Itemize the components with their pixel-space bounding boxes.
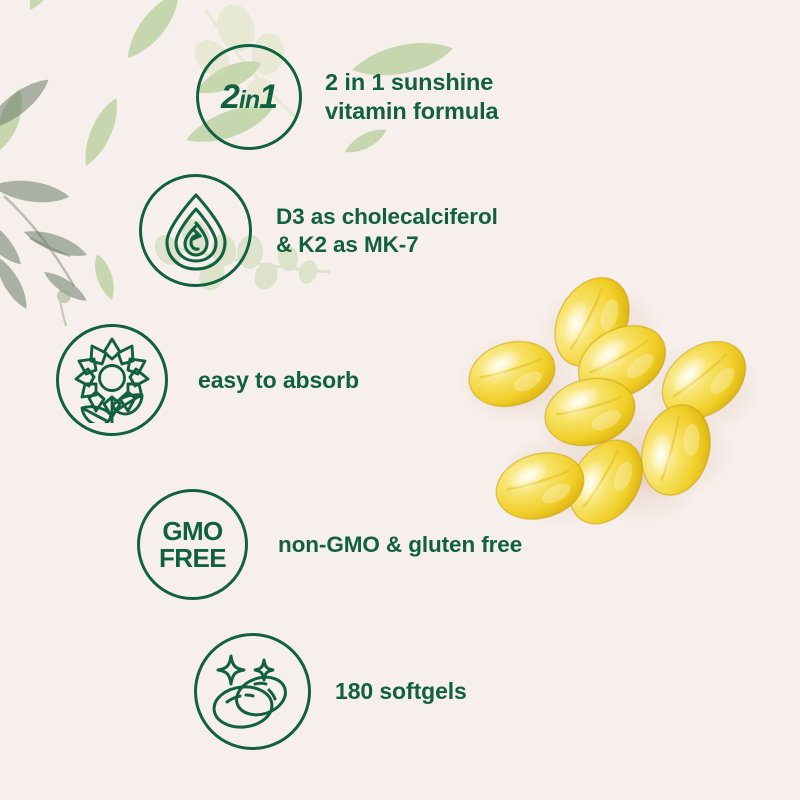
feature-label-two-in-one: 2 in 1 sunshine vitamin formula xyxy=(325,68,498,125)
feature-label-d3-k2: D3 as cholecalciferol & K2 as MK-7 xyxy=(276,203,498,258)
sunflower-icon-badge xyxy=(56,324,168,436)
feature-label-easy-absorb: easy to absorb xyxy=(198,366,359,394)
feature-row-two-in-one: 2in1 2 in 1 sunshine vitamin formula xyxy=(196,44,498,150)
two-in-one-badge-icon: 2in1 xyxy=(196,44,302,150)
feature-label-gmo-free: non-GMO & gluten free xyxy=(278,531,522,558)
gmo-free-badge-label: GMO FREE xyxy=(159,518,226,571)
feature-row-d3-k2: D3 as cholecalciferol & K2 as MK-7 xyxy=(139,174,498,287)
feature-row-easy-absorb: easy to absorb xyxy=(56,324,359,436)
droplet-spiral-icon-badge xyxy=(139,174,252,287)
gmo-line-1: GMO xyxy=(159,518,226,545)
sunflower-icon xyxy=(70,337,154,423)
two-in-one-badge-label: 2in1 xyxy=(221,80,277,114)
infographic-canvas: 2in1 2 in 1 sunshine vitamin formula D3 … xyxy=(0,0,800,800)
softgels-sparkle-icon xyxy=(209,652,297,732)
softgels-sparkle-icon-badge xyxy=(194,633,311,750)
droplet-spiral-icon xyxy=(159,190,233,272)
gmo-line-2: FREE xyxy=(159,545,226,572)
feature-row-softgel-count: 180 softgels xyxy=(194,633,467,750)
feature-label-softgel-count: 180 softgels xyxy=(335,677,467,705)
feature-row-gmo-free: GMO FREE non-GMO & gluten free xyxy=(137,489,522,600)
gmo-free-badge-icon: GMO FREE xyxy=(137,489,248,600)
